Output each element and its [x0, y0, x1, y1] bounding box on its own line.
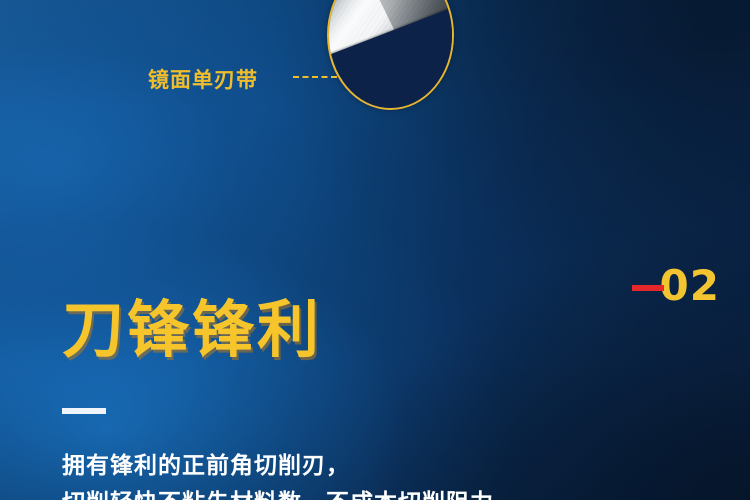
callout-label: 镜面单刃带 [148, 64, 258, 94]
photo-inner [329, 0, 452, 108]
red-strike-bar-icon [632, 285, 664, 291]
page-title: 刀锋锋利 [62, 298, 322, 365]
slide-canvas: 镜面单刃带 02 刀锋锋利 拥有锋利的正前角切削刃， 切削轻快不粘先材料数，不成… [0, 0, 750, 500]
step-number-value: 02 [660, 261, 720, 310]
description-text: 拥有锋利的正前角切削刃， 切削轻快不粘先材料数，不成本切削阻力 [62, 447, 702, 500]
description-line-1: 拥有锋利的正前角切削刃， [62, 447, 702, 484]
divider-rule-icon [62, 408, 106, 414]
step-number: 02 [660, 265, 720, 307]
description-line-2: 切削轻快不粘先材料数，不成本切削阻力 [62, 484, 702, 500]
tool-edge-macro-photo-icon [327, 0, 454, 110]
dashed-leader-line-icon [293, 76, 337, 78]
